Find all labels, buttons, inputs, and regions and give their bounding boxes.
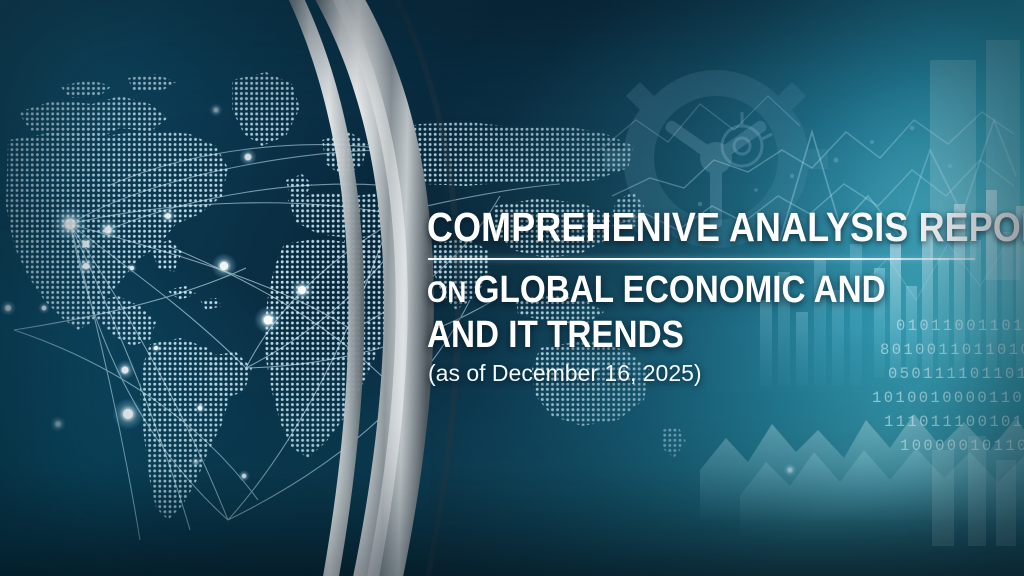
title-divider — [428, 258, 975, 260]
page-title: COMPREHENIVE ANALYSIS REPORT — [427, 205, 917, 249]
subtitle-line-2: AND IT TRENDS — [427, 314, 917, 357]
title-block: COMPREHENIVE ANALYSIS REPORT ON GLOBAL E… — [427, 205, 987, 387]
subtitle-subject-1: GLOBAL ECONOMIC AND — [474, 269, 886, 311]
date-note: (as of December 16, 2025) — [428, 360, 987, 387]
subtitle-preposition: ON — [427, 276, 474, 309]
title-slide: 0101100110110100101 801001101101001011 0… — [0, 0, 1024, 576]
silver-arc-thin — [286, 0, 364, 576]
subtitle-line-1: ON GLOBAL ECONOMIC AND — [427, 269, 917, 314]
